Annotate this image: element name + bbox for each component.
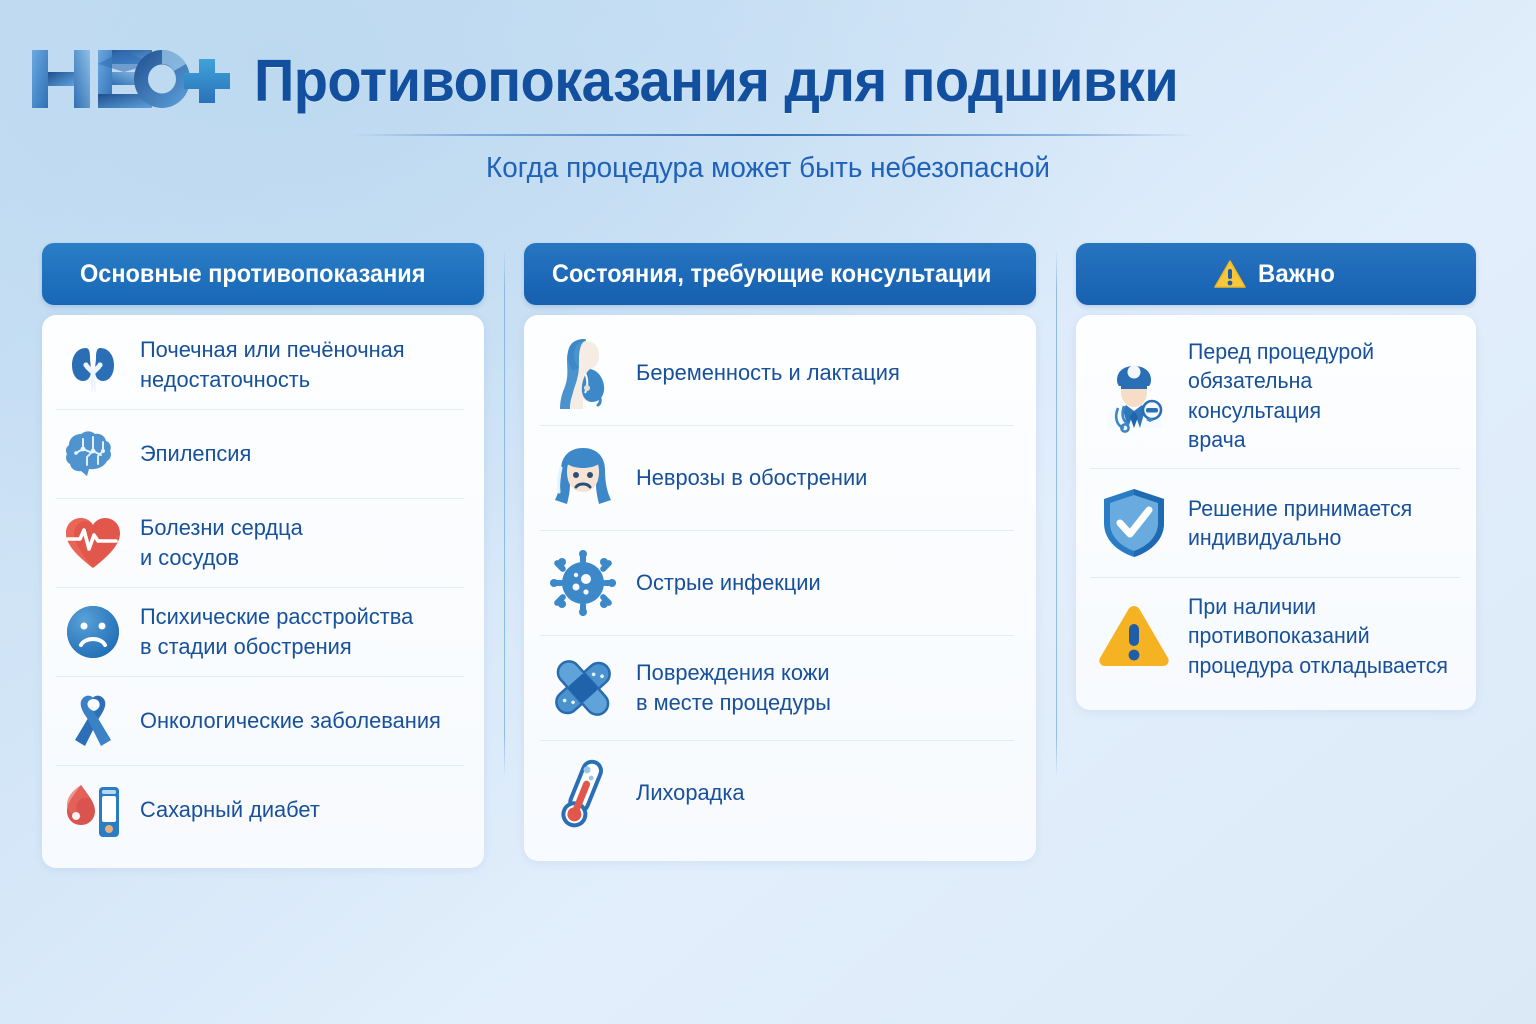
list-item[interactable]: Онкологические заболевания xyxy=(56,677,464,766)
list-item[interactable]: Сахарный диабет xyxy=(56,766,464,854)
list-item-label: Психические расстройства в стадии обостр… xyxy=(140,602,413,662)
column-header-label: Важно xyxy=(1258,260,1335,289)
column-divider-2 xyxy=(1056,248,1057,778)
brain-icon xyxy=(60,421,126,487)
list-item[interactable]: Перед процедурой обязательна консультаци… xyxy=(1090,323,1460,469)
warning-triangle-icon xyxy=(1214,259,1246,289)
column-body-conditions-requiring-consultation: Беременность и лактация xyxy=(524,315,1036,861)
virus-icon xyxy=(544,544,622,622)
list-item-label: Острые инфекции xyxy=(636,568,821,598)
list-item-label: Сахарный диабет xyxy=(140,795,320,825)
list-item[interactable]: Неврозы в обострении xyxy=(540,426,1014,531)
list-item-label: При наличии противопоказаний процедура о… xyxy=(1188,592,1448,680)
pregnant-woman-icon xyxy=(544,334,622,412)
list-item[interactable]: Острые инфекции xyxy=(540,531,1014,636)
list-item-label: Решение принимается индивидуально xyxy=(1188,494,1412,553)
list-item-label: Болезни сердца и сосудов xyxy=(140,513,303,573)
thermometer-icon xyxy=(544,754,622,832)
neo-plus-logo-icon xyxy=(28,42,236,121)
bandage-icon xyxy=(544,649,622,727)
shield-check-icon xyxy=(1094,483,1174,563)
title-row: Противопоказания для подшивки xyxy=(28,42,1227,121)
list-item[interactable]: Беременность и лактация xyxy=(540,321,1014,426)
list-item-label: Повреждения кожи в месте процедуры xyxy=(636,658,831,718)
title-divider xyxy=(352,134,1197,136)
list-item[interactable]: Болезни сердца и сосудов xyxy=(56,499,464,588)
warning-triangle-icon xyxy=(1094,596,1174,676)
ribbon-icon xyxy=(60,688,126,754)
column-header-conditions-requiring-consultation: Состояния, требующие консультации xyxy=(524,243,1036,305)
column-body-main-contraindications: Почечная или печёночная недостаточность xyxy=(42,315,484,868)
list-item[interactable]: Эпилепсия xyxy=(56,410,464,499)
list-item[interactable]: При наличии противопоказаний процедура о… xyxy=(1090,578,1460,694)
column-header-important: Важно xyxy=(1076,243,1476,305)
list-item-label: Перед процедурой обязательна консультаци… xyxy=(1188,337,1448,454)
sad-woman-icon xyxy=(544,439,622,517)
list-item[interactable]: Почечная или печёночная недостаточность xyxy=(56,321,464,410)
list-item-label: Неврозы в обострении xyxy=(636,463,867,493)
list-item[interactable]: Повреждения кожи в месте процедуры xyxy=(540,636,1014,741)
column-body-important: Перед процедурой обязательна консультаци… xyxy=(1076,315,1476,710)
column-header-label: Основные противопоказания xyxy=(80,260,425,289)
list-item-label: Онкологические заболевания xyxy=(140,706,441,736)
blood-glucometer-icon xyxy=(60,777,126,843)
column-conditions-requiring-consultation: Состояния, требующие консультации xyxy=(524,243,1036,861)
page-title: Противопоказания для подшивки xyxy=(254,52,1178,111)
list-item[interactable]: Лихорадка xyxy=(540,741,1014,845)
heart-pulse-icon xyxy=(60,510,126,576)
kidneys-icon xyxy=(60,332,126,398)
list-item-label: Эпилепсия xyxy=(140,439,251,469)
list-item-label: Беременность и лактация xyxy=(636,358,900,388)
list-item-label: Почечная или печёночная недостаточность xyxy=(140,335,405,395)
page-subtitle: Когда процедура может быть небезопасной xyxy=(31,152,1506,185)
column-important: Важно xyxy=(1076,243,1476,710)
list-item-label: Лихорадка xyxy=(636,778,745,808)
column-divider-1 xyxy=(504,248,505,778)
header: Противопоказания для подшивки Когда проц… xyxy=(0,0,1536,210)
list-item[interactable]: Решение принимается индивидуально xyxy=(1090,469,1460,578)
column-header-main-contraindications: Основные противопоказания xyxy=(42,243,484,305)
column-main-contraindications: Основные противопоказания xyxy=(42,243,484,868)
list-item[interactable]: Психические расстройства в стадии обостр… xyxy=(56,588,464,677)
doctor-icon xyxy=(1094,356,1174,436)
sad-face-icon xyxy=(60,599,126,665)
infographic-canvas: Противопоказания для подшивки Когда проц… xyxy=(0,0,1536,1024)
column-header-label: Состояния, требующие консультации xyxy=(552,260,991,289)
